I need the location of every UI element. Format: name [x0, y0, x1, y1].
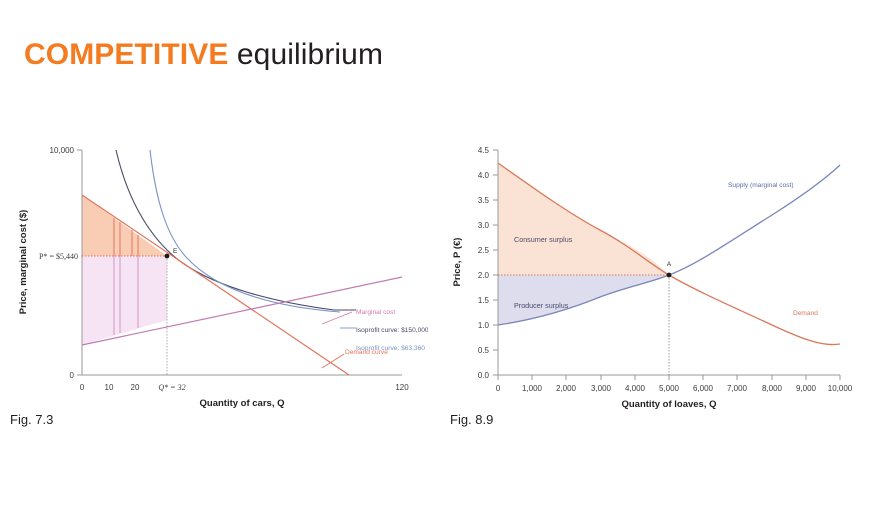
y-tick-label-0: 0 — [70, 371, 75, 380]
x-tick-label-6000: 6,000 — [693, 384, 714, 393]
y-tick-label-3-5: 3.5 — [478, 196, 490, 205]
y-tick-label-4-0: 4.0 — [478, 171, 490, 180]
x-tick-label-10000: 10,000 — [828, 384, 853, 393]
isoprofit-150000-label: Isoprofit curve: $150,000 — [356, 327, 428, 334]
y-tick-label-3-0: 3.0 — [478, 221, 490, 230]
y-tick-label-4-5: 4.5 — [478, 146, 490, 155]
x-tick-label-3000: 3,000 — [591, 384, 612, 393]
producer-surplus-area — [498, 275, 669, 325]
consumer-surplus-label: Consumer surplus — [514, 235, 573, 244]
x-tick-label-20: 20 — [131, 383, 140, 392]
x-tick-label-9000: 9,000 — [796, 384, 817, 393]
y-tick-label-0-0: 0.0 — [478, 371, 490, 380]
figure-caption-right: Fig. 8.9 — [450, 412, 493, 427]
figure-caption-left: Fig. 7.3 — [10, 412, 53, 427]
y-axis-title: Price, marginal cost ($) — [18, 210, 29, 315]
x-tick-label-0: 0 — [496, 384, 501, 393]
demand-curve-leader-line — [322, 354, 344, 368]
x-tick-label-120: 120 — [395, 383, 409, 392]
y-tick-label-2-5: 2.5 — [478, 246, 490, 255]
y-tick-label-2-0: 2.0 — [478, 271, 490, 280]
x-tick-label-qstar: Q* = 32 — [158, 383, 185, 392]
page-title-emphasis: COMPETITIVE — [24, 38, 228, 71]
supply-curve-label: Supply (marginal cost) — [728, 182, 794, 189]
equilibrium-point-marker — [667, 273, 672, 278]
page-title: COMPETITIVE equilibrium — [24, 38, 383, 72]
x-tick-label-7000: 7,000 — [727, 384, 748, 393]
y-tick-label-10000: 10,000 — [50, 146, 75, 155]
chart-bread-market-surplus: A Consumer surplus Producer surplus Supp… — [440, 132, 878, 412]
figure-bread-market: A Consumer surplus Producer surplus Supp… — [440, 132, 878, 412]
demand-curve-label: Demand — [793, 310, 818, 317]
figure-car-market: E 10,000 0 P* = $5,440 0 10 20 Q* = 32 1… — [4, 132, 428, 412]
y-tick-group — [493, 150, 498, 375]
y-tick-label-1-0: 1.0 — [478, 321, 490, 330]
page-title-rest: equilibrium — [228, 38, 383, 71]
x-tick-group — [498, 375, 840, 380]
x-tick-label-10: 10 — [105, 383, 114, 392]
x-tick-label-4000: 4,000 — [625, 384, 646, 393]
equilibrium-point-label: E — [173, 248, 177, 255]
chart-car-market-equilibrium: E 10,000 0 P* = $5,440 0 10 20 Q* = 32 1… — [4, 132, 428, 412]
marginal-cost-label: Marginal cost — [356, 309, 395, 316]
producer-surplus-area — [82, 256, 167, 345]
price-star-label: P* = $5,440 — [39, 252, 78, 261]
y-tick-label-0-5: 0.5 — [478, 346, 490, 355]
equilibrium-point-marker — [165, 254, 170, 259]
x-axis-title: Quantity of cars, Q — [200, 398, 285, 409]
demand-curve-label: Demand curve — [345, 349, 388, 356]
isoprofit-curve-63360 — [150, 150, 340, 312]
y-tick-label-1-5: 1.5 — [478, 296, 490, 305]
producer-surplus-label: Producer surplus — [514, 301, 569, 310]
equilibrium-point-label: A — [667, 261, 672, 268]
x-axis-title: Quantity of loaves, Q — [621, 399, 716, 410]
x-tick-label-2000: 2,000 — [556, 384, 577, 393]
x-tick-label-0: 0 — [80, 383, 85, 392]
y-axis-title: Price, P (€) — [452, 238, 463, 287]
marginal-cost-leader-line — [322, 312, 352, 324]
x-tick-label-1000: 1,000 — [522, 384, 543, 393]
x-tick-label-5000: 5,000 — [659, 384, 680, 393]
x-tick-label-8000: 8,000 — [762, 384, 783, 393]
